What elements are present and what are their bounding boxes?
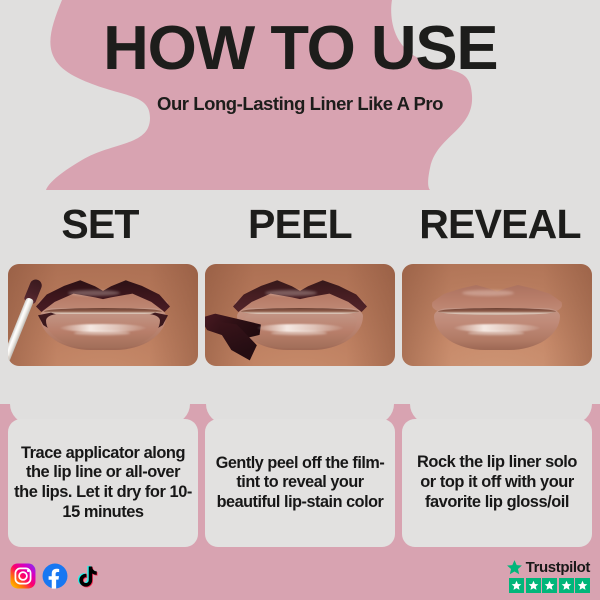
page-title: HOW TO USE <box>103 20 497 79</box>
trustpilot-star-rating <box>509 578 590 593</box>
step-headings-row: SET PEEL REVEAL <box>0 193 600 255</box>
step-title-text: REVEAL <box>419 204 581 245</box>
gloss-highlight-lower-2 <box>271 331 327 335</box>
rating-star <box>559 578 574 593</box>
trustpilot-name: Trustpilot <box>526 559 590 576</box>
header-section: HOW TO USE Our Long-Lasting Liner Like A… <box>0 0 600 190</box>
gloss-highlight-lower-2 <box>468 331 524 335</box>
tiktok-icon[interactable] <box>74 563 100 589</box>
page-subtitle: Our Long-Lasting Liner Like A Pro <box>157 93 443 115</box>
footer-bar: Trustpilot <box>0 552 600 600</box>
step-card-peel: Gently peel off the film-tint to reveal … <box>205 419 395 547</box>
step-card-text: Gently peel off the film-tint to reveal … <box>211 454 389 512</box>
how-to-use-poster: HOW TO USE Our Long-Lasting Liner Like A… <box>0 0 600 600</box>
step-card-set: Trace applicator along the lip line or a… <box>8 419 198 547</box>
trustpilot-logo: Trustpilot <box>506 559 590 576</box>
social-links <box>10 563 100 589</box>
facebook-icon[interactable] <box>42 563 68 589</box>
step-title-text: PEEL <box>248 204 352 245</box>
lips-graphic <box>428 278 566 352</box>
trustpilot-widget[interactable]: Trustpilot <box>506 559 590 593</box>
rating-star <box>542 578 557 593</box>
mouth-line <box>438 308 556 315</box>
gloss-highlight-upper <box>265 290 317 296</box>
step-image-set <box>8 264 198 366</box>
step-card-reveal: Rock the lip liner solo or top it off wi… <box>402 419 592 547</box>
gloss-highlight-upper <box>68 290 120 296</box>
rating-star <box>509 578 524 593</box>
rating-star <box>575 578 590 593</box>
star-icon <box>506 559 523 576</box>
lips-graphic <box>231 278 369 352</box>
step-images-row <box>0 264 600 366</box>
step-heading-peel: PEEL <box>200 193 400 255</box>
rating-star <box>526 578 541 593</box>
step-heading-reveal: REVEAL <box>400 193 600 255</box>
step-card-text: Trace applicator along the lip line or a… <box>14 444 192 523</box>
instagram-icon[interactable] <box>10 563 36 589</box>
step-card-text: Rock the lip liner solo or top it off wi… <box>408 453 586 512</box>
gloss-highlight-lower-2 <box>74 331 130 335</box>
step-heading-set: SET <box>0 193 200 255</box>
step-image-peel <box>205 264 395 366</box>
step-title-text: SET <box>61 204 138 245</box>
gloss-highlight-upper <box>462 290 514 296</box>
step-image-reveal <box>402 264 592 366</box>
step-copy-cards-row: Trace applicator along the lip line or a… <box>0 419 600 547</box>
lips-graphic <box>34 278 172 352</box>
